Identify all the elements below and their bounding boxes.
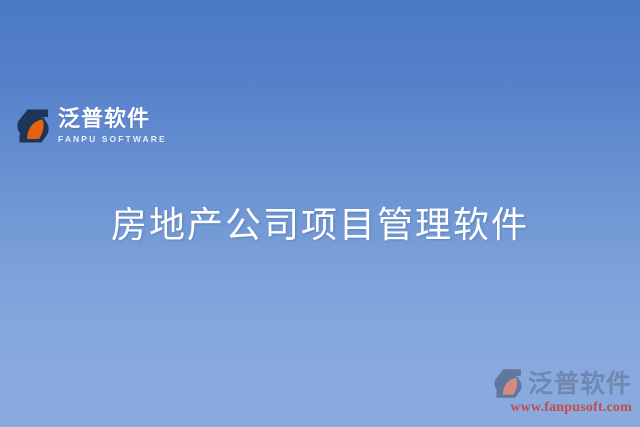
- brand-name-en: FANPU SOFTWARE: [58, 135, 167, 144]
- watermark-url: www.fanpusoft.com: [510, 401, 632, 415]
- slide-canvas: 泛普软件 FANPU SOFTWARE 房地产公司项目管理软件 泛普软件 www…: [0, 0, 640, 427]
- main-title-container: 房地产公司项目管理软件: [0, 203, 640, 248]
- fanpu-hexagon-logo-icon: [493, 368, 523, 399]
- watermark-logo-row: 泛普软件: [493, 368, 632, 399]
- fanpu-hexagon-logo-icon: [16, 108, 50, 144]
- page-title: 房地产公司项目管理软件: [111, 203, 529, 248]
- brand-logo: 泛普软件 FANPU SOFTWARE: [16, 108, 167, 144]
- watermark: 泛普软件 www.fanpusoft.com: [493, 368, 632, 415]
- brand-text-block: 泛普软件 FANPU SOFTWARE: [58, 109, 167, 144]
- watermark-name-cn: 泛普软件: [528, 371, 632, 396]
- brand-name-cn: 泛普软件: [58, 109, 167, 131]
